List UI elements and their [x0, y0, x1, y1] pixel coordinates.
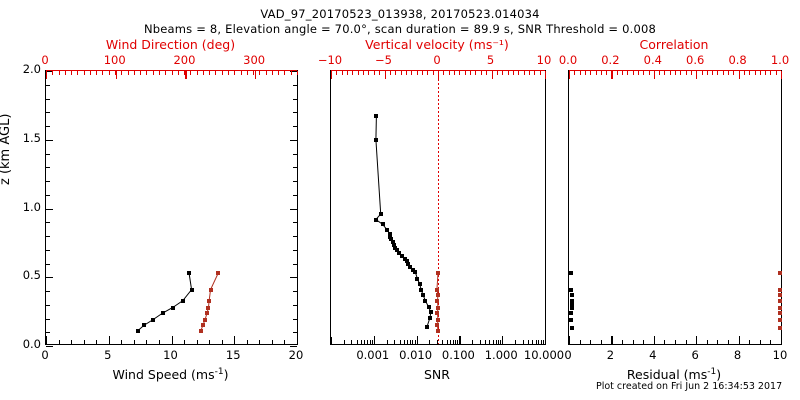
- data-point-marker: [436, 306, 440, 310]
- top-axis-tick-label: 0: [25, 53, 65, 67]
- data-point-marker: [136, 329, 140, 333]
- top-axis-title: Vertical velocity (ms⁻¹): [330, 37, 544, 52]
- data-point-marker: [570, 326, 574, 330]
- top-axis-tick-label: 0.8: [718, 53, 758, 67]
- data-point-marker: [171, 306, 175, 310]
- data-point-marker: [778, 326, 782, 330]
- panel-wind-speed-direction: [45, 70, 298, 345]
- data-point-marker: [418, 282, 422, 286]
- data-point-marker: [205, 311, 209, 315]
- data-point-marker: [415, 277, 419, 281]
- data-point-marker: [778, 311, 782, 315]
- panel-residual-correlation: [568, 70, 782, 345]
- data-point-marker: [436, 293, 440, 297]
- top-axis-minor-tick: [545, 71, 546, 75]
- data-point-marker: [413, 270, 417, 274]
- top-axis-tick-label: 100: [95, 53, 135, 67]
- data-point-marker: [427, 305, 431, 309]
- series-lines: [569, 71, 781, 346]
- x-axis-tick-label: 10: [750, 348, 800, 362]
- top-axis-tick-label: 1.0: [760, 53, 800, 67]
- data-point-marker: [429, 310, 433, 314]
- footer-timestamp: Plot created on Fri Jun 2 16:34:53 2017: [596, 381, 782, 392]
- data-point-marker: [778, 306, 782, 310]
- top-axis-tick-label: 300: [234, 53, 274, 67]
- x-axis-title: Residual (ms-1): [568, 367, 780, 382]
- top-axis-tick-label: 0.2: [590, 53, 630, 67]
- data-point-marker: [419, 288, 423, 292]
- top-axis-tick-label: 200: [164, 53, 204, 67]
- data-point-marker: [425, 325, 429, 329]
- data-point-marker: [203, 318, 207, 322]
- data-point-marker: [569, 271, 573, 275]
- data-point-marker: [421, 293, 425, 297]
- data-point-marker: [436, 329, 440, 333]
- data-point-marker: [778, 271, 782, 275]
- data-point-marker: [423, 299, 427, 303]
- data-point-marker: [190, 288, 194, 292]
- y-axis-tick-label: 0.5: [13, 268, 41, 282]
- data-point-marker: [161, 311, 165, 315]
- y-axis-label: z (km AGL): [0, 114, 13, 185]
- data-point-marker: [778, 293, 782, 297]
- data-point-marker: [187, 271, 191, 275]
- x-axis-tick-label: 5: [78, 348, 138, 362]
- data-point-marker: [374, 138, 378, 142]
- x-axis-tick-label: 15: [203, 348, 263, 362]
- data-point-marker: [199, 329, 203, 333]
- data-point-marker: [570, 306, 574, 310]
- data-point-marker: [207, 299, 211, 303]
- data-point-marker: [181, 299, 185, 303]
- top-axis-title: Wind Direction (deg): [45, 37, 296, 52]
- data-point-marker: [216, 271, 220, 275]
- data-point-marker: [209, 288, 213, 292]
- data-point-marker: [435, 299, 439, 303]
- data-point-marker: [374, 218, 378, 222]
- x-axis-minor-tick: [297, 340, 298, 344]
- x-axis-title: SNR: [330, 367, 544, 382]
- data-point-marker: [379, 212, 383, 216]
- top-axis-tick-label: 0: [417, 53, 457, 67]
- data-point-marker: [151, 318, 155, 322]
- top-axis-tick-label: −10: [310, 53, 350, 67]
- x-axis-tick-label: 0: [15, 348, 75, 362]
- data-point-marker: [778, 288, 782, 292]
- data-point-marker: [570, 293, 574, 297]
- top-axis-title: Correlation: [568, 37, 780, 52]
- x-axis-minor-tick: [545, 337, 546, 344]
- x-axis-minor-tick: [781, 340, 782, 344]
- data-point-marker: [435, 288, 439, 292]
- top-axis-tick-label: 0.6: [675, 53, 715, 67]
- top-axis-tick-label: 0.0: [548, 53, 588, 67]
- data-point-marker: [778, 318, 782, 322]
- data-point-marker: [778, 299, 782, 303]
- data-point-marker: [428, 316, 432, 320]
- data-point-marker: [435, 323, 439, 327]
- data-point-marker: [569, 318, 573, 322]
- top-axis-tick-label: 0.4: [633, 53, 673, 67]
- y-axis-tick: [46, 346, 53, 347]
- data-point-marker: [435, 311, 439, 315]
- data-point-marker: [569, 311, 573, 315]
- data-point-marker: [374, 114, 378, 118]
- data-point-marker: [436, 271, 440, 275]
- x-axis-tick-label: 20: [266, 348, 326, 362]
- top-axis-minor-tick: [781, 71, 782, 75]
- top-axis-minor-tick: [297, 71, 298, 75]
- data-point-marker: [206, 306, 210, 310]
- data-point-marker: [201, 323, 205, 327]
- figure-title-line-1: VAD_97_20170523_013938, 20170523.014034: [0, 7, 800, 21]
- figure-title-line-2: Nbeams = 8, Elevation angle = 70.0°, sca…: [0, 22, 800, 36]
- data-point-marker: [142, 323, 146, 327]
- data-point-marker: [569, 288, 573, 292]
- data-point-marker: [436, 318, 440, 322]
- x-axis-tick-label: 10: [141, 348, 201, 362]
- y-axis-tick-label: 1.5: [13, 131, 41, 145]
- y-axis-tick: [290, 346, 297, 347]
- data-point-marker: [381, 222, 385, 226]
- x-axis-title: Wind Speed (ms-1): [45, 367, 296, 382]
- y-axis-tick-label: 1.0: [13, 200, 41, 214]
- panel-snr-vertical-velocity: [330, 70, 546, 345]
- top-axis-tick-label: −5: [364, 53, 404, 67]
- top-axis-tick-label: 5: [471, 53, 511, 67]
